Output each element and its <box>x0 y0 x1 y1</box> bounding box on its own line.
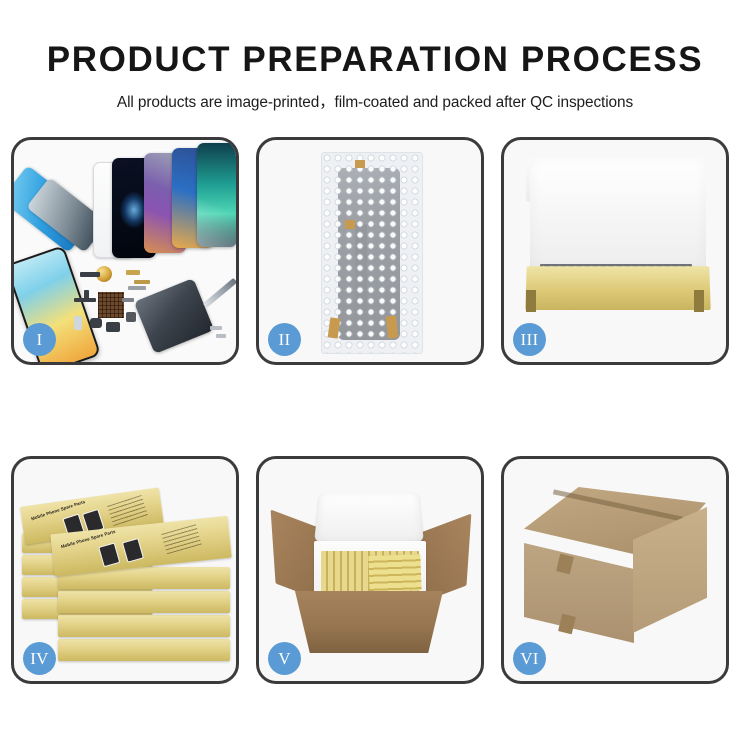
process-step-panel-4[interactable]: Mobile Phone Spare Parts Mobile Phone Sp… <box>11 456 239 684</box>
spare-part-chip <box>128 286 146 290</box>
process-step-panel-5[interactable]: V <box>256 456 484 684</box>
box-print-lines <box>161 524 202 555</box>
process-step-panel-3[interactable]: III <box>501 137 729 365</box>
spare-part-chip <box>90 318 102 328</box>
box-window-right <box>122 538 144 563</box>
kraft-box-stacked <box>58 639 230 661</box>
brown-carton-body-icon <box>295 591 443 653</box>
process-step-grid: I II III <box>11 137 739 685</box>
box-corner-left <box>526 290 536 312</box>
foam-cooler-lid-icon <box>314 492 424 542</box>
step-badge-5: V <box>268 642 301 675</box>
screwdriver-icon <box>203 278 236 308</box>
process-step-panel-1[interactable]: I <box>11 137 239 365</box>
phone-teal-icon <box>197 143 236 247</box>
process-step-panel-2[interactable]: II <box>256 137 484 365</box>
page-subtitle: All products are image-printed，film-coat… <box>0 79 750 112</box>
box-window-left <box>98 542 120 567</box>
logic-board-part-icon <box>98 292 124 318</box>
step-badge-3: III <box>513 323 546 356</box>
spare-part-chip <box>134 280 150 284</box>
foam-lid-icon <box>530 158 706 270</box>
carton-tape-lower <box>558 614 576 635</box>
step-badge-1: I <box>23 323 56 356</box>
spare-part-chip <box>74 316 82 330</box>
spare-part-chip <box>216 334 226 338</box>
kraft-box-stacked <box>58 615 230 637</box>
box-corner-right <box>694 290 704 312</box>
box-print-lines <box>107 495 148 527</box>
step-badge-4: IV <box>23 642 56 675</box>
kraft-box-stacked <box>58 591 230 613</box>
spare-part-chip <box>126 270 140 275</box>
process-step-panel-6[interactable]: VI <box>501 456 729 684</box>
tape-piece-icon <box>386 316 398 339</box>
kraft-box-body-icon <box>525 266 710 310</box>
yellow-boxes-inside-icon <box>368 554 421 592</box>
spare-part-chip <box>106 322 120 332</box>
step-badge-6: VI <box>513 642 546 675</box>
tape-piece-icon <box>355 160 365 168</box>
tape-piece-icon <box>345 220 355 229</box>
spare-part-chip <box>74 298 96 302</box>
carton-front-face <box>524 543 634 643</box>
step-badge-2: II <box>268 323 301 356</box>
spare-part-chip <box>80 272 100 277</box>
page-title: PRODUCT PREPARATION PROCESS <box>0 0 750 79</box>
spare-part-chip <box>126 312 136 322</box>
page-header: PRODUCT PREPARATION PROCESS All products… <box>0 0 750 112</box>
spare-part-chip <box>122 298 134 302</box>
spare-part-chip <box>210 326 222 330</box>
